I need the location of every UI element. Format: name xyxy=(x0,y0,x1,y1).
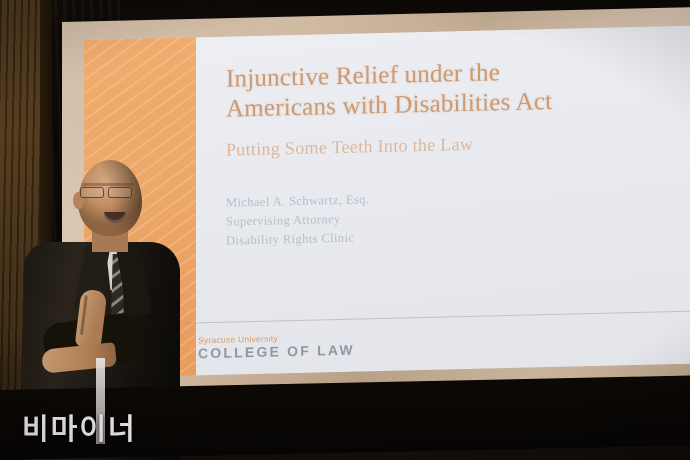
slide-title-line-1: Injunctive Relief under the xyxy=(226,59,500,92)
speaker-head-shading xyxy=(78,160,142,236)
speaker-brow xyxy=(82,183,134,186)
slide-subtitle: Putting Some Teeth Into the Law xyxy=(226,129,688,161)
slide-title: Injunctive Relief under the Americans wi… xyxy=(226,54,688,124)
university-logo: Syracuse University COLLEGE OF LAW xyxy=(198,332,355,361)
slide-content: Injunctive Relief under the Americans wi… xyxy=(196,25,690,375)
author-block: Michael A. Schwartz, Esq. Supervising At… xyxy=(226,183,688,250)
slide-title-line-2: Americans with Disabilities Act xyxy=(226,87,552,122)
watermark-text: 비마이너 xyxy=(22,406,137,448)
logo-college-name: COLLEGE OF LAW xyxy=(198,342,355,362)
speaker-glasses xyxy=(80,187,140,197)
presentation-photograph: Injunctive Relief under the Americans wi… xyxy=(0,0,690,460)
